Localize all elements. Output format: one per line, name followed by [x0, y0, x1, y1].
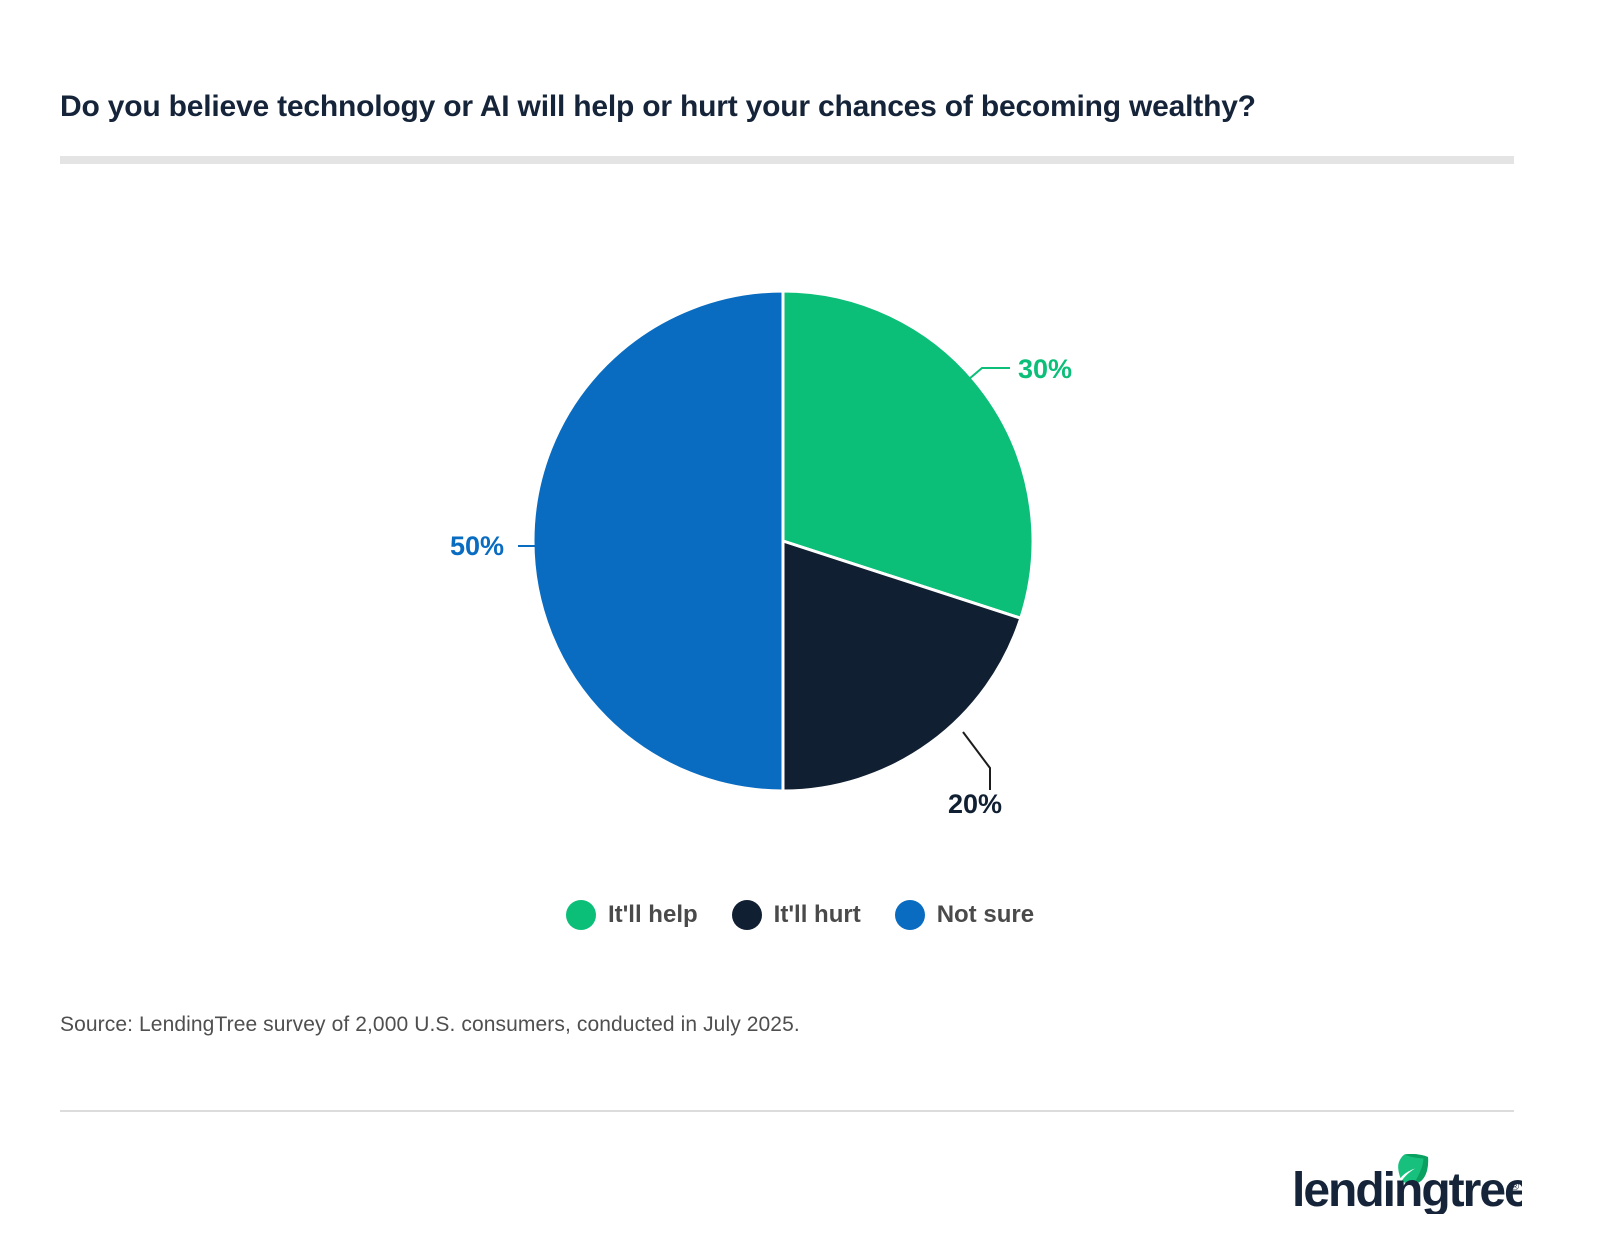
legend-label-hurt: It'll hurt — [774, 901, 861, 929]
title-divider — [60, 156, 1514, 164]
pie-chart-svg: 30% 20% 50% — [400, 180, 1180, 880]
legend-item-not-sure[interactable]: Not sure — [895, 900, 1034, 930]
legend-label-help: It'll help — [608, 901, 698, 929]
chart-page: Do you believe technology or AI will hel… — [0, 0, 1600, 1254]
logo-wordmark: lendingtree — [1292, 1164, 1522, 1214]
page-title: Do you believe technology or AI will hel… — [60, 88, 1530, 126]
legend-swatch-navy-icon — [732, 900, 762, 930]
legend-swatch-blue-icon — [895, 900, 925, 930]
source-note: Source: LendingTree survey of 2,000 U.S.… — [60, 1013, 800, 1037]
pie-label-not-sure: 50% — [450, 531, 504, 561]
lendingtree-logo-svg: lendingtree ® — [1292, 1150, 1522, 1214]
legend-item-help[interactable]: It'll help — [566, 900, 698, 930]
pie-label-help: 30% — [1018, 354, 1072, 384]
logo-trademark: ® — [1511, 1181, 1519, 1193]
lendingtree-logo[interactable]: lendingtree ® — [1292, 1150, 1522, 1214]
legend-label-not-sure: Not sure — [937, 901, 1034, 929]
pie-chart-area: 30% 20% 50% — [0, 180, 1600, 880]
legend-swatch-green-icon — [566, 900, 596, 930]
pie-label-hurt: 20% — [948, 789, 1002, 819]
chart-legend: It'll help It'll hurt Not sure — [0, 900, 1600, 930]
legend-item-hurt[interactable]: It'll hurt — [732, 900, 861, 930]
pie-slice-not-sure[interactable] — [533, 291, 783, 791]
leader-line-hurt — [963, 732, 990, 790]
footer-divider — [60, 1110, 1514, 1112]
